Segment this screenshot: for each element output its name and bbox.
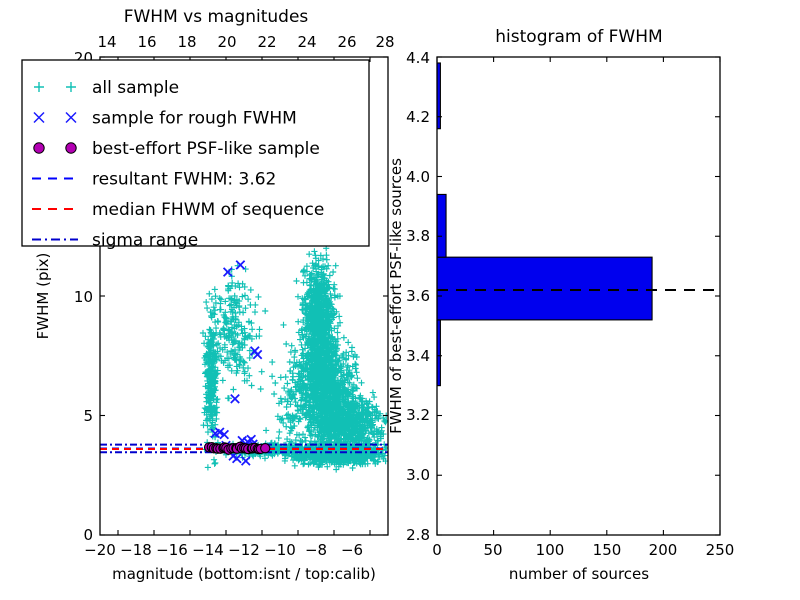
hist-x-tick-label: 250 [706,541,735,559]
histogram-y-ticklabels: 2.8 3.0 3.2 3.4 3.6 3.8 4.0 4.2 4.4 [406,49,430,544]
legend-label: best-effort PSF-like sample [92,139,320,159]
top-tick-label: 18 [177,33,196,51]
bottom-tick-label: −12 [228,541,260,559]
top-tick-label: 20 [217,33,236,51]
legend-label: sigma range [92,231,198,251]
figure-root: FWHM vs magnitudes 14 16 18 20 22 24 26 … [0,0,800,600]
hist-x-tick-label: 200 [649,541,678,559]
hist-y-tick-label: 3.2 [406,406,430,424]
legend-label: resultant FWHM: 3.62 [92,170,276,190]
hist-y-tick-label: 3.4 [406,347,430,365]
bottom-tick-label: −6 [341,541,363,559]
legend-circle-icon [34,143,44,153]
legend-circle-icon [66,143,76,153]
bottom-tick-label: −16 [156,541,188,559]
y-tick-label: 0 [83,526,93,544]
scatter-yaxis-label: FWHM (pix) [34,253,52,340]
hist-x-tick-label: 0 [432,541,442,559]
hist-x-tick-label: 100 [536,541,565,559]
hist-y-tick-label: 3.0 [406,466,430,484]
matplotlib-figure: FWHM vs magnitudes 14 16 18 20 22 24 26 … [0,0,800,600]
legend-label: sample for rough FWHM [92,109,297,129]
legend: all samplesample for rough FWHMbest-effo… [22,60,369,251]
histogram-yaxis-label: FWHM of best-effort PSF-like sources [387,158,405,434]
top-tick-label: 22 [257,33,276,51]
y-tick-label: 5 [83,407,93,425]
histogram-bar [437,257,652,320]
hist-y-tick-label: 2.8 [406,526,430,544]
bottom-tick-label: −10 [264,541,296,559]
top-tick-label: 16 [137,33,156,51]
hist-y-tick-label: 4.2 [406,108,430,126]
y-tick-label: 10 [74,288,93,306]
histogram-panel-title: histogram of FWHM [495,27,662,47]
hist-y-tick-label: 4.0 [406,168,430,186]
hist-y-tick-label: 3.6 [406,287,430,305]
top-tick-label: 14 [97,33,116,51]
top-tick-label: 26 [337,33,356,51]
hist-x-tick-label: 50 [483,541,502,559]
top-tick-label: 24 [297,33,316,51]
bottom-tick-label: −14 [192,541,224,559]
hist-y-tick-label: 4.4 [406,49,430,67]
scatter-bottom-ticklabels: −20 −18 −16 −14 −12 −10 −8 −6 [84,541,363,559]
bottom-tick-label: −8 [305,541,327,559]
scatter-xaxis-label: magnitude (bottom:isnt / top:calib) [112,565,376,583]
legend-label: median FHWM of sequence [92,200,324,220]
hist-y-tick-label: 3.8 [406,227,430,245]
scatter-panel-title: FWHM vs magnitudes [124,7,309,27]
hist-x-tick-label: 150 [593,541,622,559]
top-tick-label: 28 [375,33,394,51]
bottom-tick-label: −18 [120,541,152,559]
histogram-xaxis-label: number of sources [509,565,649,583]
histogram-bar [437,194,446,257]
legend-label: all sample [92,78,179,98]
psf-sample-point [261,444,270,453]
